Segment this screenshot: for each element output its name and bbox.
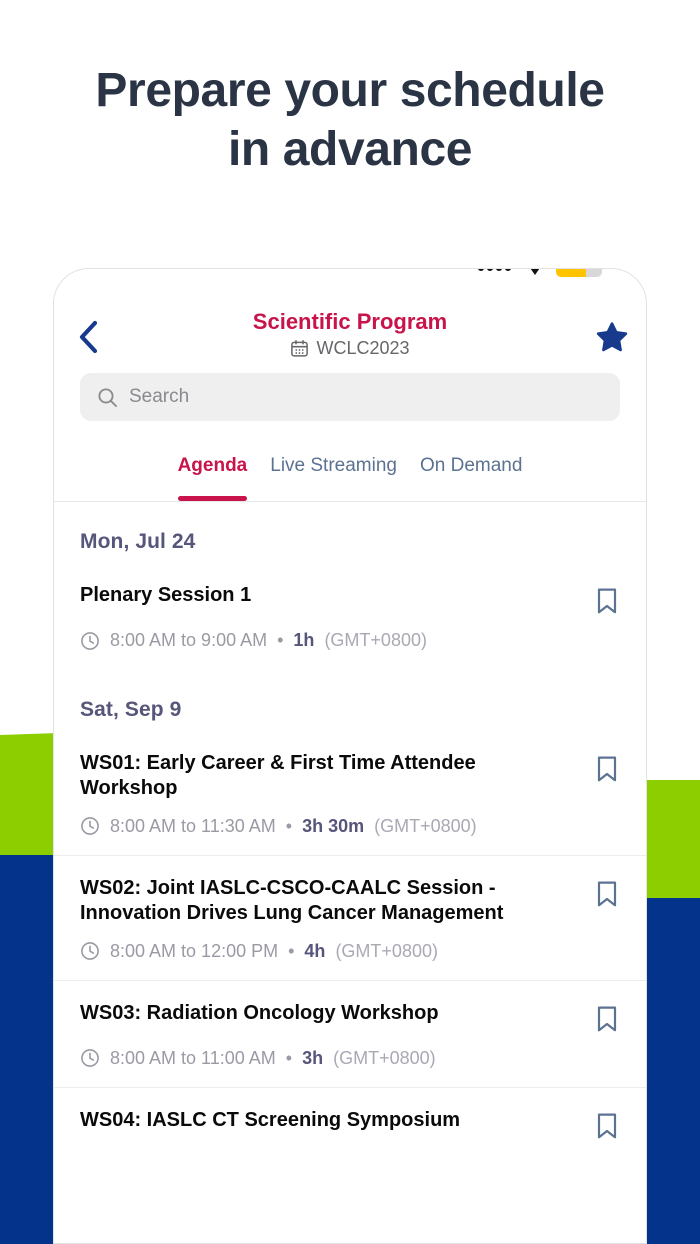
star-icon[interactable] [590, 315, 634, 359]
decoration-left-green [0, 733, 58, 857]
session-duration: 1h [293, 630, 314, 651]
session-row: WS02: Joint IASLC-CSCO-CAALC Session - I… [80, 876, 620, 927]
session-title: WS03: Radiation Oncology Workshop [80, 1001, 439, 1026]
session-duration: 3h [302, 1048, 323, 1069]
session-time: 8:00 AM to 9:00 AM • 1h (GMT+0800) [80, 630, 620, 651]
session-time: 8:00 AM to 11:00 AM • 3h (GMT+0800) [80, 1048, 620, 1069]
day-header: Sat, Sep 9 [54, 669, 646, 731]
event-subtitle: WCLC2023 [124, 338, 576, 360]
decoration-left-blue [0, 855, 58, 1244]
page-title: Scientific Program [124, 309, 576, 336]
decoration-right-green [644, 780, 700, 902]
session-row: Plenary Session 1 [80, 583, 620, 616]
battery-icon [556, 268, 602, 277]
session-time-range: 8:00 AM to 11:30 AM [110, 816, 276, 837]
session-title: Plenary Session 1 [80, 583, 251, 608]
session-time-separator: • [286, 1048, 292, 1069]
session-timezone: (GMT+0800) [335, 941, 438, 962]
clock-icon [80, 631, 100, 651]
decoration-right-blue [644, 898, 700, 1244]
session-time: 8:00 AM to 12:00 PM • 4h (GMT+0800) [80, 941, 620, 962]
session-title: WS02: Joint IASLC-CSCO-CAALC Session - I… [80, 876, 550, 927]
session-title: WS04: IASLC CT Screening Symposium [80, 1108, 460, 1133]
phone-mockup: + Scientific Program [53, 268, 647, 1244]
session-title: WS01: Early Career & First Time Attendee… [80, 751, 550, 802]
calendar-icon [290, 339, 309, 358]
promo-headline: Prepare your schedule in advance [0, 62, 700, 179]
tab-agenda[interactable]: Agenda [178, 455, 248, 501]
plus-icon: + [184, 268, 198, 270]
event-code: WCLC2023 [316, 338, 409, 360]
session-time-separator: • [286, 816, 292, 837]
tab-bar: Agenda Live Streaming On Demand [54, 455, 646, 502]
session-duration: 4h [304, 941, 325, 962]
session-timezone: (GMT+0800) [324, 630, 427, 651]
clock-icon [80, 816, 100, 836]
bookmark-icon[interactable] [594, 1004, 620, 1034]
tab-on-demand[interactable]: On Demand [420, 455, 522, 501]
agenda-list[interactable]: Mon, Jul 24 Plenary Session 1 8:00 AM [54, 501, 646, 1243]
session-time-range: 8:00 AM to 11:00 AM [110, 1048, 276, 1069]
signal-dots-icon [478, 268, 511, 271]
bookmark-icon[interactable] [594, 879, 620, 909]
day-header: Mon, Jul 24 [54, 501, 646, 563]
session-time-range: 8:00 AM to 9:00 AM [110, 630, 267, 651]
status-bar: + [54, 268, 646, 286]
session-time-separator: • [288, 941, 294, 962]
session-item[interactable]: WS02: Joint IASLC-CSCO-CAALC Session - I… [54, 855, 646, 980]
session-timezone: (GMT+0800) [333, 1048, 436, 1069]
promo-headline-line1: Prepare your schedule [0, 62, 700, 121]
session-row: WS01: Early Career & First Time Attendee… [80, 751, 620, 802]
session-item[interactable]: Plenary Session 1 8:00 AM to 9:00 AM • 1… [54, 563, 646, 669]
wifi-icon [528, 268, 542, 275]
session-duration: 3h 30m [302, 816, 364, 837]
session-row: WS03: Radiation Oncology Workshop [80, 1001, 620, 1034]
bookmark-icon[interactable] [594, 754, 620, 784]
session-time-separator: • [277, 630, 283, 651]
tab-live-streaming[interactable]: Live Streaming [270, 455, 397, 501]
navbar-titles: Scientific Program [124, 309, 576, 359]
session-item[interactable]: WS03: Radiation Oncology Workshop 8:00 A… [54, 980, 646, 1087]
session-item[interactable]: WS01: Early Career & First Time Attendee… [54, 731, 646, 855]
search-input[interactable] [129, 386, 603, 408]
session-item[interactable]: WS04: IASLC CT Screening Symposium [54, 1087, 646, 1159]
clock-icon [80, 1048, 100, 1068]
search-bar[interactable] [80, 373, 620, 421]
back-chevron-icon[interactable] [66, 315, 110, 359]
clock-icon [80, 941, 100, 961]
session-timezone: (GMT+0800) [374, 816, 477, 837]
bookmark-icon[interactable] [594, 1111, 620, 1141]
session-time: 8:00 AM to 11:30 AM • 3h 30m (GMT+0800) [80, 816, 620, 837]
session-row: WS04: IASLC CT Screening Symposium [80, 1108, 620, 1141]
promo-headline-line2: in advance [0, 121, 700, 180]
session-time-range: 8:00 AM to 12:00 PM [110, 941, 278, 962]
search-icon [97, 387, 118, 408]
bookmark-icon[interactable] [594, 586, 620, 616]
app-navbar: Scientific Program [54, 307, 646, 369]
